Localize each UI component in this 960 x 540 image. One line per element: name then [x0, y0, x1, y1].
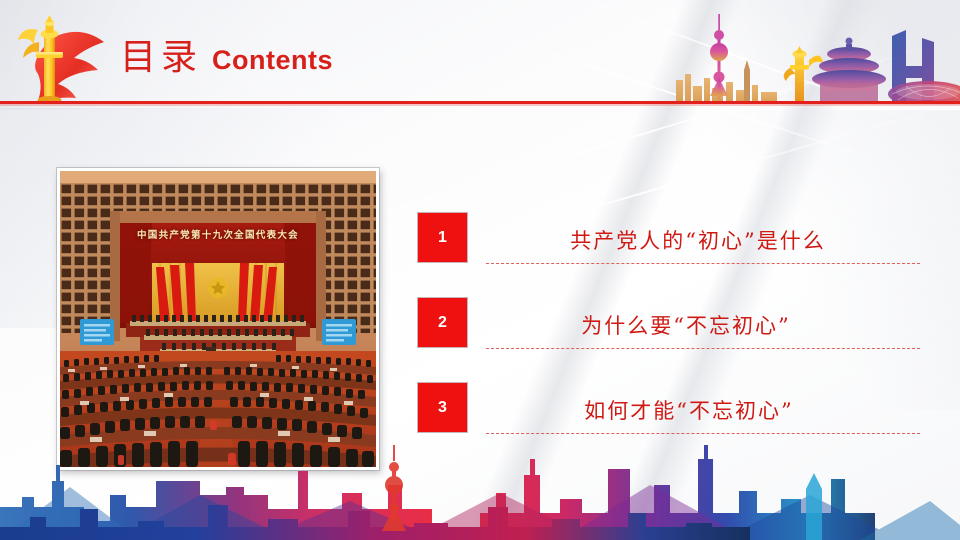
contents-item-label: 共产党人的“初心”是什么	[478, 219, 918, 261]
contents-item-badge: 2	[418, 298, 467, 347]
contents-item-label: 如何才能“不忘初心”	[478, 389, 918, 431]
contents-item-1[interactable]: 1 共产党人的“初心”是什么	[418, 213, 918, 298]
huabiao-emblem-icon	[8, 12, 113, 103]
contents-item-badge: 3	[418, 383, 467, 432]
header-divider-glow	[0, 104, 960, 106]
landmarks-decoration	[660, 8, 960, 103]
congress-photo: 中国共产党第十九次全国代表大会	[57, 168, 379, 470]
page-title-en: Contents	[212, 47, 333, 74]
contents-item-label: 为什么要“不忘初心”	[478, 304, 918, 346]
contents-item-2[interactable]: 2 为什么要“不忘初心”	[418, 298, 918, 383]
contents-item-badge: 1	[418, 213, 467, 262]
contents-item-underline	[486, 263, 920, 264]
header-band: 目录 Contents	[0, 0, 960, 103]
page-title-cn: 目录	[120, 40, 202, 76]
contents-list: 1 共产党人的“初心”是什么 2 为什么要“不忘初心” 3 如何才能“不忘初心”	[418, 213, 918, 468]
contents-item-number: 2	[438, 314, 447, 332]
page-title: 目录 Contents	[120, 40, 333, 76]
slide-root: 目录 Contents	[0, 0, 960, 540]
contents-item-underline	[486, 433, 920, 434]
skyline-decoration	[0, 435, 960, 540]
contents-item-underline	[486, 348, 920, 349]
photo-banner-text: 中国共产党第十九次全国代表大会	[60, 227, 376, 241]
contents-item-number: 3	[438, 399, 447, 417]
contents-item-number: 1	[438, 229, 447, 247]
